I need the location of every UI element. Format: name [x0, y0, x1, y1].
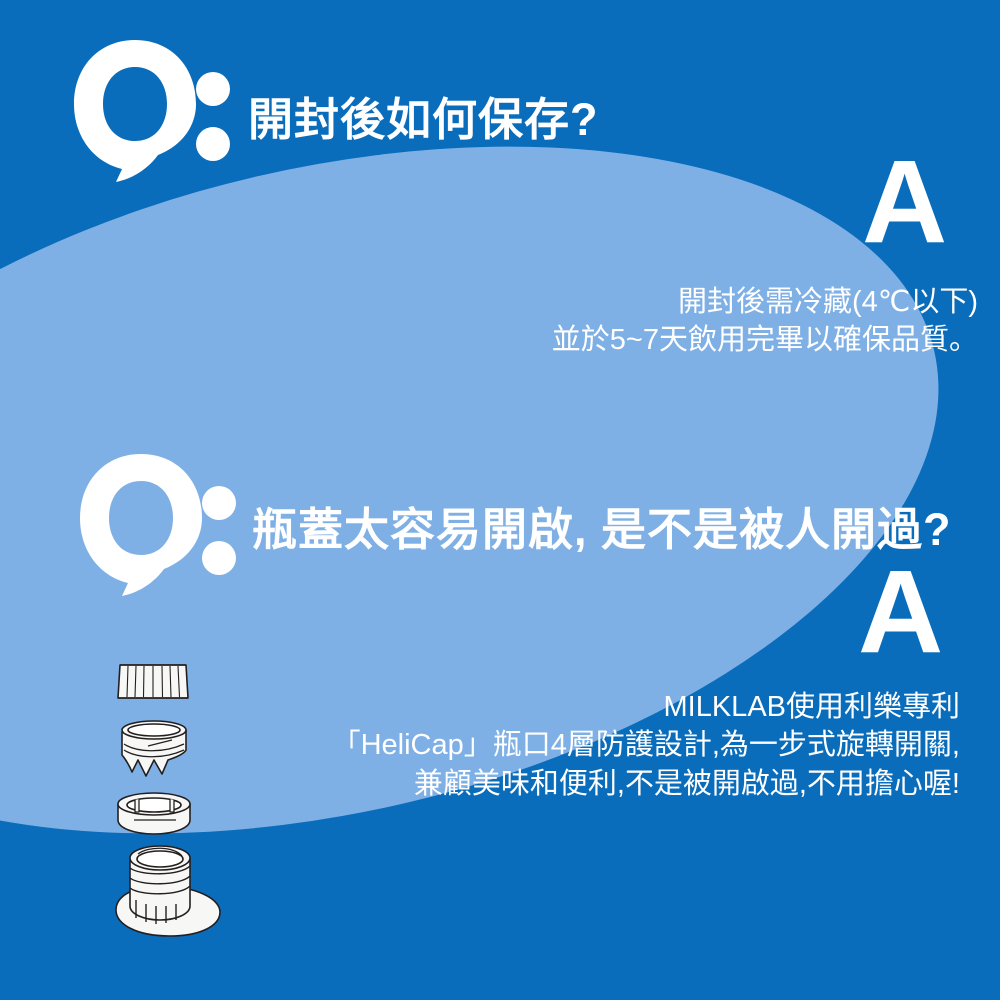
answer-text-1: 開封後需冷藏(4℃以下) 並於5~7天飲用完畢以確保品質。 [552, 283, 978, 360]
inner-cutter-ring-part [122, 721, 186, 776]
ribbed-outer-cap-part [118, 665, 188, 698]
answer-line: 兼顧美味和便利,不是被開啟過,不用擔心喔! [332, 765, 960, 803]
faq-graphic: 開封後如何保存? A 開封後需冷藏(4℃以下) 並於5~7天飲用完畢以確保品質。… [0, 0, 1000, 1000]
answer-marker-2: A [858, 553, 942, 671]
question-line: 開封後如何保存? [248, 94, 599, 145]
question-line: 瓶蓋太容易開啟, [252, 504, 588, 555]
question-marker-2 [78, 452, 238, 597]
helicap-exploded-illustration [108, 660, 238, 945]
tamper-evident-ring-part [118, 793, 190, 834]
question-marker-1 [72, 38, 232, 183]
bottle-neck-flange-part [116, 846, 220, 936]
answer-text-2: MILKLAB使用利樂專利 「HeliCap」瓶口4層防護設計,為一步式旋轉開關… [332, 688, 960, 803]
answer-line: MILKLAB使用利樂專利 [332, 688, 960, 726]
question-text-2: 瓶蓋太容易開啟, 是不是被人開過? [252, 503, 952, 556]
answer-line: 開封後需冷藏(4℃以下) [552, 283, 978, 321]
answer-marker-1: A [862, 143, 946, 261]
answer-line: 「HeliCap」瓶口4層防護設計,為一步式旋轉開關, [332, 726, 960, 764]
question-text-1: 開封後如何保存? [248, 93, 599, 146]
answer-line: 並於5~7天飲用完畢以確保品質。 [552, 321, 978, 359]
